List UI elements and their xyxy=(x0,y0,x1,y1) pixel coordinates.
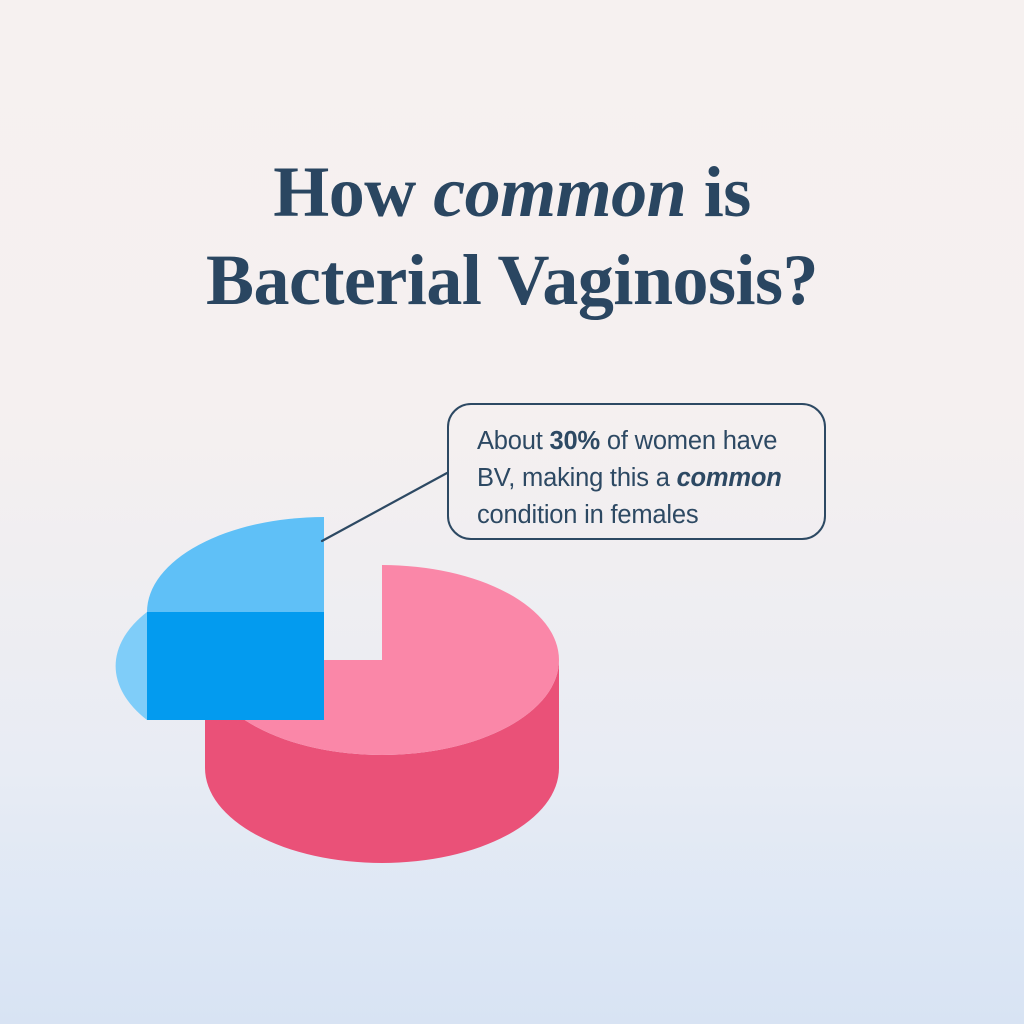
callout-box: About 30% of women have BV, making this … xyxy=(447,403,826,540)
callout-leader-line xyxy=(322,473,447,541)
infographic-canvas: How common is Bacterial Vaginosis? About… xyxy=(0,0,1024,1024)
callout-pre: About xyxy=(477,427,550,455)
blue-slice-side-left xyxy=(116,612,147,720)
pie-slice-with-bv xyxy=(116,517,324,720)
callout-emphasis-common: common xyxy=(677,464,782,492)
blue-slice-top xyxy=(147,517,324,612)
callout-stat: 30% xyxy=(550,427,600,455)
callout-text: About 30% of women have BV, making this … xyxy=(477,423,798,534)
blue-slice-side-cut xyxy=(147,612,324,720)
callout-post: condition in females xyxy=(477,501,698,529)
